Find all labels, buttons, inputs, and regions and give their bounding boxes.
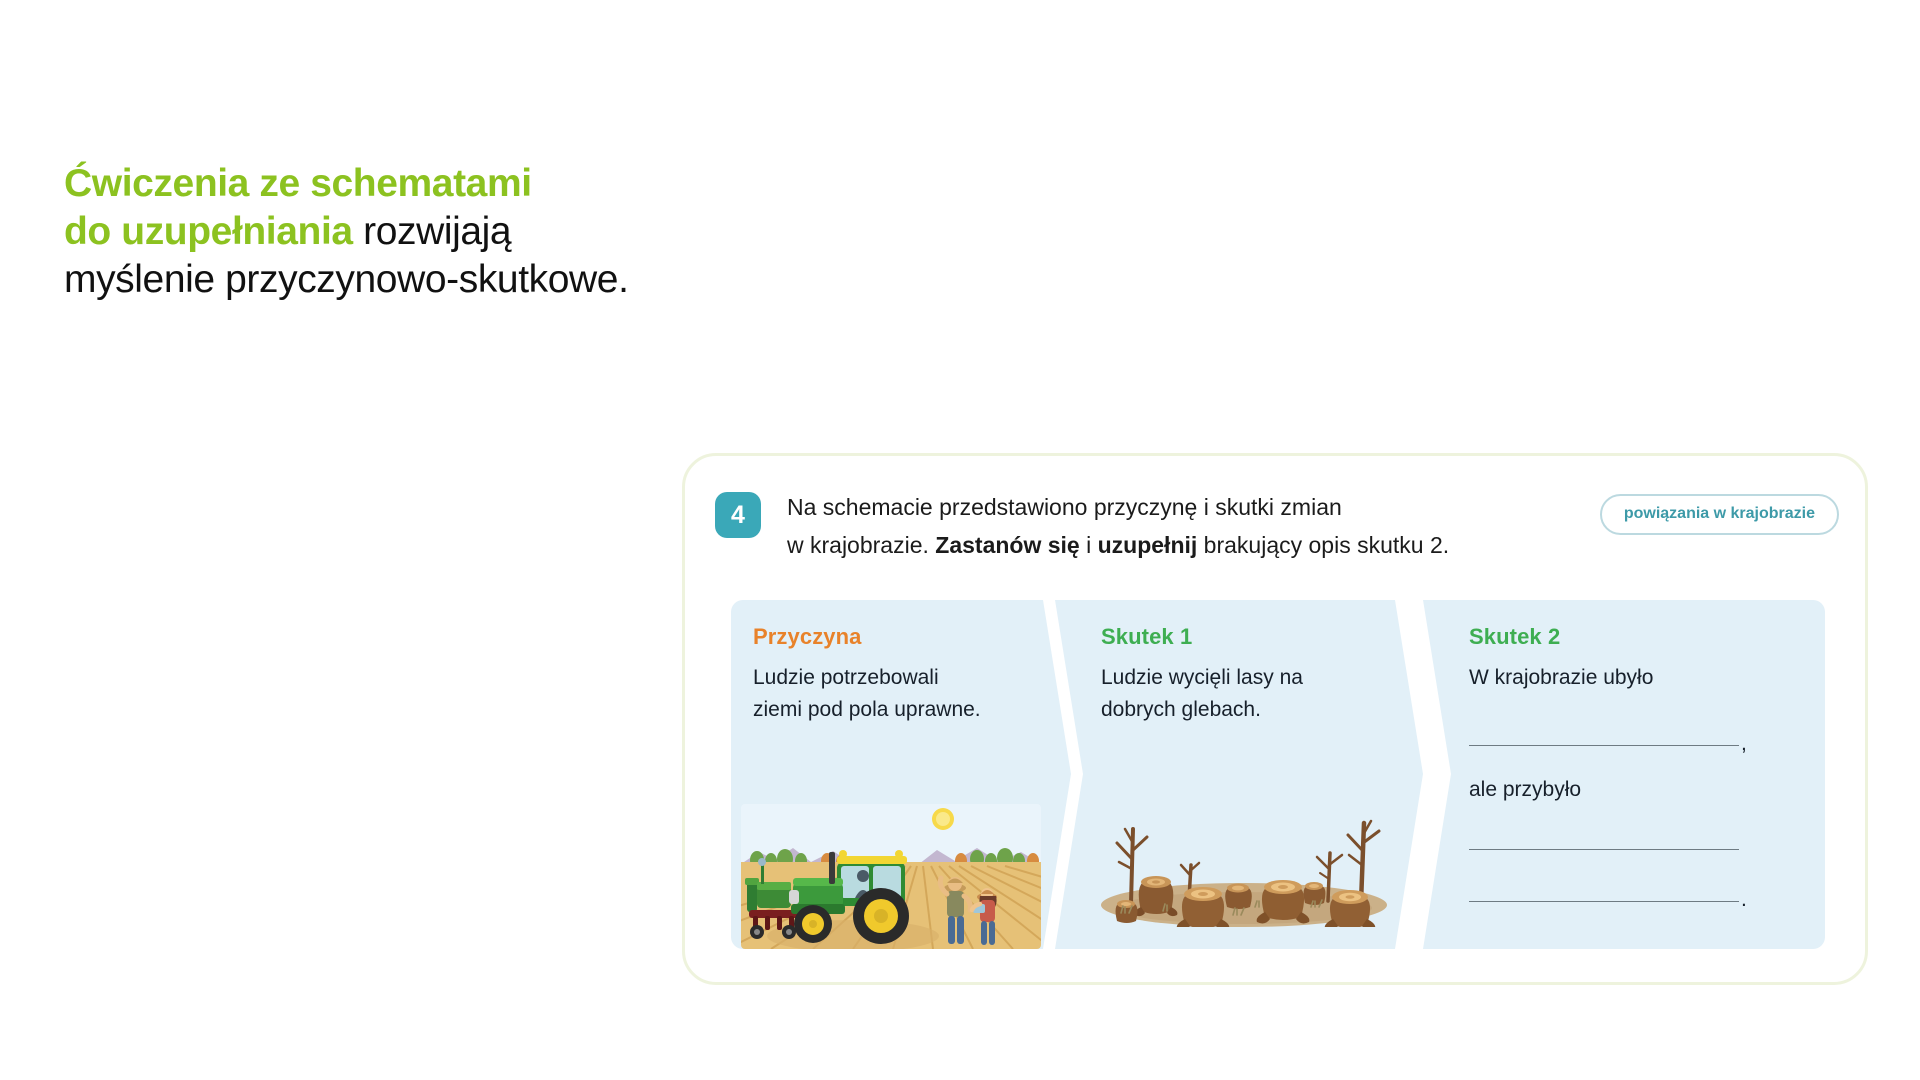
headline-line-1: Ćwiczenia ze schematami <box>64 160 629 208</box>
panel-cause: Przyczyna Ludzie potrzebowali ziemi pod … <box>731 600 1071 949</box>
cause-effect-diagram: Przyczyna Ludzie potrzebowali ziemi pod … <box>731 600 1825 949</box>
panel-cause-body: Ludzie potrzebowali ziemi pod pola upraw… <box>753 662 1023 726</box>
answer-blank-punct-1: , <box>1741 733 1747 754</box>
answer-connector-row: ale przybyło <box>1469 756 1769 808</box>
exercise-prompt-bold-1: Zastanów się <box>935 532 1079 558</box>
panel-effect-2-title: Skutek 2 <box>1469 624 1560 650</box>
headline-line-3: myślenie przyczynowo-skutkowe. <box>64 256 629 304</box>
exercise-prompt-line-1: Na schemacie przedstawiono przyczynę i s… <box>787 494 1342 520</box>
answer-blank-row-2[interactable] <box>1469 808 1769 860</box>
topic-tag[interactable]: powiązania w krajobrazie <box>1600 494 1839 535</box>
headline-line-3-text: myślenie przyczynowo-skutkowe. <box>64 258 629 301</box>
panel-effect-1-body-line-1: Ludzie wycięli lasy na <box>1101 666 1303 689</box>
panel-effect-2: Skutek 2 W krajobrazie ubyło , ale przyb… <box>1423 600 1825 949</box>
panel-effect-1-body: Ludzie wycięli lasy na dobrych glebach. <box>1101 662 1371 726</box>
panel-effect-2-body: W krajobrazie ubyło <box>1469 662 1739 694</box>
exercise-number-badge: 4 <box>715 492 761 538</box>
page-headline: Ćwiczenia ze schematami do uzupełniania … <box>64 160 629 304</box>
panel-cause-body-line-2: ziemi pod pola uprawne. <box>753 698 981 721</box>
answer-blank-line-3[interactable] <box>1469 901 1739 902</box>
answer-blank-row-3[interactable]: . <box>1469 860 1769 912</box>
tree-stumps-deforestation-illustration <box>1099 807 1389 927</box>
panel-cause-title: Przyczyna <box>753 624 862 650</box>
headline-line-2: do uzupełniania rozwijają <box>64 208 629 256</box>
exercise-prompt-bold-2: uzupełnij <box>1098 532 1198 558</box>
headline-line-1-text: Ćwiczenia ze schematami <box>64 162 532 205</box>
answer-blank-line-1[interactable] <box>1469 745 1739 746</box>
panel-cause-body-line-1: Ludzie potrzebowali <box>753 666 939 689</box>
answer-blank-punct-3: . <box>1741 889 1747 910</box>
exercise-card: 4 Na schemacie przedstawiono przyczynę i… <box>682 453 1868 985</box>
answer-blank-line-2[interactable] <box>1469 849 1739 850</box>
answer-connector-text: ale przybyło <box>1469 776 1581 804</box>
panel-effect-2-body-line-1: W krajobrazie ubyło <box>1469 666 1653 689</box>
answer-blank-row-1[interactable]: , <box>1469 704 1769 756</box>
headline-line-2-green-text: do uzupełniania <box>64 210 353 253</box>
exercise-prompt-line-2-part-b: i <box>1080 532 1098 558</box>
exercise-prompt: Na schemacie przedstawiono przyczynę i s… <box>787 488 1587 564</box>
exercise-prompt-line-2-part-a: w krajobrazie. <box>787 532 935 558</box>
panel-effect-1-title: Skutek 1 <box>1101 624 1192 650</box>
panel-effect-1: Skutek 1 Ludzie wycięli lasy na dobrych … <box>1055 600 1423 949</box>
tractor-field-farmers-illustration <box>741 804 1041 949</box>
headline-line-2-dark-text: rozwijają <box>353 210 512 253</box>
exercise-header: 4 Na schemacie przedstawiono przyczynę i… <box>715 488 1839 574</box>
panel-effect-1-body-line-2: dobrych glebach. <box>1101 698 1261 721</box>
exercise-prompt-line-2-part-c: brakujący opis skutku 2. <box>1197 532 1449 558</box>
answer-blanks: , ale przybyło . <box>1469 704 1769 912</box>
